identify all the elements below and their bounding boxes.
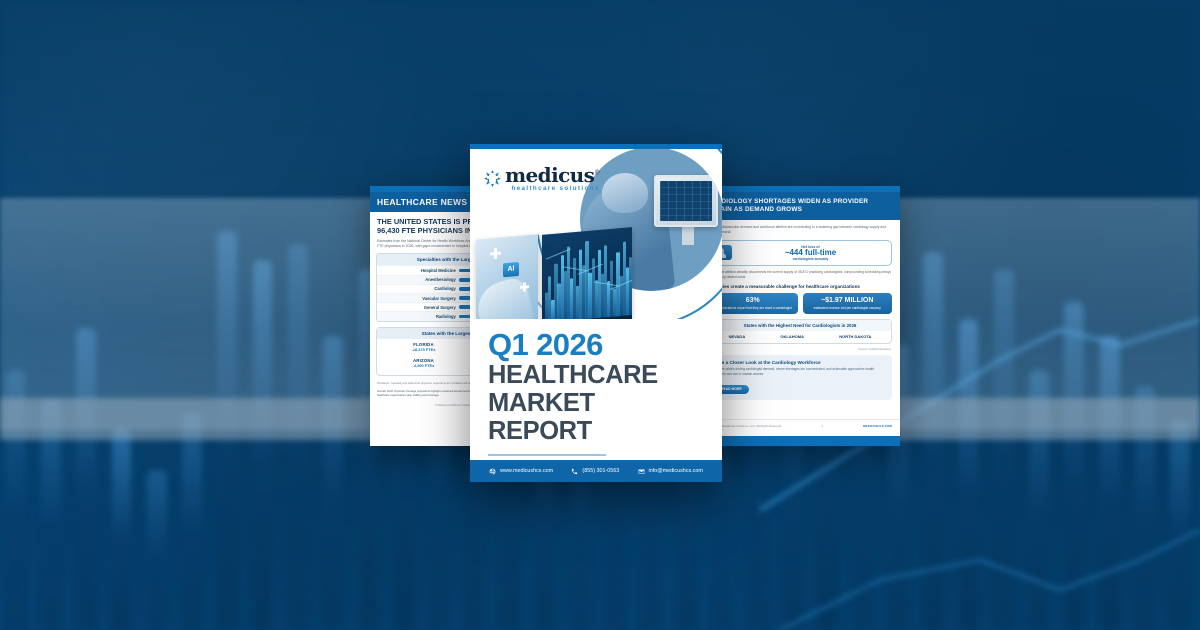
net-loss-value: ~444 full-time <box>736 249 885 258</box>
state-cell: FLORIDA-18,379 FTEs <box>377 339 470 355</box>
net-loss-callout: Net loss of ~444 full-time cardiologists… <box>708 240 892 267</box>
specialty-name: Anesthesiology <box>381 277 456 282</box>
cover-title-2: MARKET REPORT <box>488 390 704 445</box>
need-state: NORTH DAKOTA <box>839 335 871 340</box>
right-page-intro: Rising cardiovascular demand and workfor… <box>700 220 900 240</box>
specialty-name: General Surgery <box>381 305 456 310</box>
cta-box[interactable]: Take a Closer Look at the Cardiology Wor… <box>708 355 892 400</box>
collage-bar <box>629 257 632 315</box>
stat-value: ~$1.97 MILLION <box>806 297 890 304</box>
brand-url: MEDICUSHCS.COM <box>863 424 892 428</box>
phone-text: (855) 301-0563 <box>582 468 619 474</box>
stat-label: estimated revenue lost per cardiologist … <box>806 306 890 310</box>
right-detail: This annual attrition steadily disconnec… <box>700 266 900 283</box>
specialty-name: Hospital Medicine <box>381 268 456 273</box>
website-text: www.medicushcs.com <box>500 468 553 474</box>
cover-contact-bar: www.medicushcs.com (855) 301-0563 info@m… <box>470 460 722 482</box>
right-page-footer: © Medicus Healthcare Solutions, LLC | Al… <box>700 419 900 432</box>
stat-cards: 63%of organizations report that they are… <box>700 293 900 320</box>
cover-title-1: HEALTHCARE <box>488 362 704 390</box>
cta-body: Explore what's driving cardiologist dema… <box>714 367 886 377</box>
email-text: info@medicushcs.com <box>649 468 703 474</box>
report-page-right[interactable]: CARDIOLOGY SHORTAGES WIDEN AS PROVIDER S… <box>700 186 900 446</box>
specialty-name: Vascular Surgery <box>381 296 456 301</box>
net-loss-caption: cardiologists annually <box>736 257 885 261</box>
contact-email[interactable]: info@medicushcs.com <box>638 468 703 475</box>
specialty-name: Cardiology <box>381 286 456 291</box>
need-state: OKLAHOMA <box>780 335 804 340</box>
state-value: -18,379 FTEs <box>378 347 469 352</box>
need-state: NEVADA <box>729 335 746 340</box>
stat-card: ~$1.97 MILLIONestimated revenue lost per… <box>803 293 893 315</box>
cover-artwork: medicus® healthcare solutions AI <box>470 149 722 319</box>
data-chart-photo <box>542 227 632 319</box>
state-value: -4,590 FTEs <box>378 363 469 368</box>
envelope-icon <box>638 468 645 475</box>
right-page-header: CARDIOLOGY SHORTAGES WIDEN AS PROVIDER S… <box>700 192 900 220</box>
state-cell: ARIZONA-4,590 FTEs <box>377 355 470 371</box>
medicus-logo[interactable]: medicus® healthcare solutions <box>484 165 600 192</box>
right-section-title: Vacancies create a measurable challenge … <box>700 284 900 293</box>
specialty-name: Radiology <box>381 314 456 319</box>
cover-divider-top <box>488 454 606 456</box>
page-number: 4 <box>821 424 823 428</box>
need-states-card: States with the Highest Need for Cardiol… <box>708 319 892 344</box>
ai-technology-photo: AI <box>476 234 538 319</box>
ai-chip-label: AI <box>503 262 519 277</box>
logo-tagline: healthcare solutions <box>505 186 600 192</box>
cover-quarter: Q1 2026 <box>488 329 704 361</box>
phone-icon <box>571 468 578 475</box>
logo-wordmark: medicus® <box>505 165 600 185</box>
need-card-title: States with the Highest Need for Cardiol… <box>709 320 891 331</box>
right-page-bottom-bar <box>700 436 900 446</box>
report-cover[interactable]: medicus® healthcare solutions AI Q1 2026… <box>470 144 722 482</box>
contact-website[interactable]: www.medicushcs.com <box>489 468 553 475</box>
cover-text-block: Q1 2026 HEALTHCARE MARKET REPORT Data-dr… <box>470 319 722 482</box>
right-source: Source: HealthcareCareers <box>700 348 900 355</box>
stat-label: of organizations report that they are sh… <box>711 306 795 310</box>
stat-value: 63% <box>711 297 795 304</box>
cta-title: Take a Closer Look at the Cardiology Wor… <box>714 360 886 365</box>
contact-phone[interactable]: (855) 301-0563 <box>571 468 619 475</box>
need-states-row: NEVADAOKLAHOMANORTH DAKOTA <box>709 331 891 343</box>
globe-icon <box>489 468 496 475</box>
star-of-life-icon <box>484 170 501 187</box>
